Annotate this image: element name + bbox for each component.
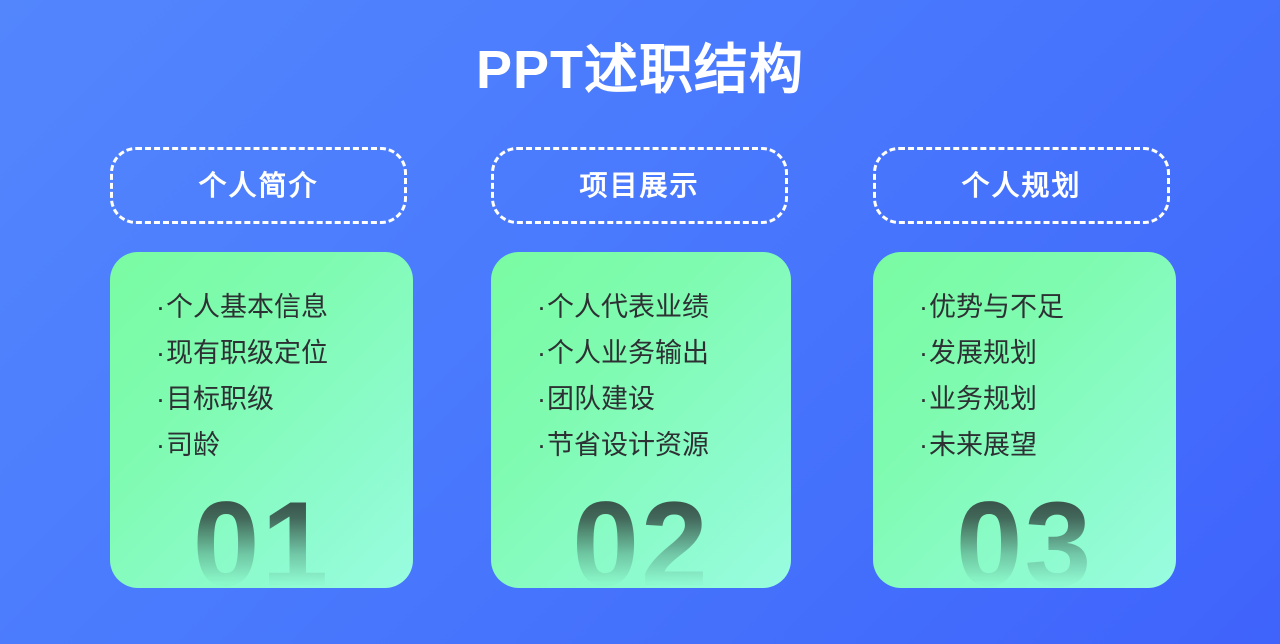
section-card-3[interactable]: · 优势与不足 · 发展规划 · 业务规划 · 未来展望 03: [873, 252, 1176, 588]
list-item-label: 节省设计资源: [547, 422, 709, 468]
list-item-label: 司龄: [166, 422, 220, 468]
list-item-label: 团队建设: [547, 376, 655, 422]
bullet-dot-icon: ·: [537, 284, 546, 330]
bullet-dot-icon: ·: [156, 284, 165, 330]
list-item: · 个人业务输出: [537, 330, 781, 376]
bullet-list-1: · 个人基本信息 · 现有职级定位 · 目标职级 · 司龄: [156, 284, 403, 468]
bullet-dot-icon: ·: [919, 330, 928, 376]
list-item-label: 目标职级: [166, 376, 274, 422]
card-number-3: 03: [873, 484, 1176, 588]
bullet-dot-icon: ·: [919, 422, 928, 468]
list-item-label: 发展规划: [929, 330, 1037, 376]
bullet-dot-icon: ·: [537, 330, 546, 376]
list-item-label: 未来展望: [929, 422, 1037, 468]
section-header-box-3[interactable]: 个人规划: [873, 147, 1170, 224]
card-number-1: 01: [110, 484, 413, 588]
bullet-dot-icon: ·: [156, 376, 165, 422]
list-item: · 优势与不足: [919, 284, 1166, 330]
section-card-1[interactable]: · 个人基本信息 · 现有职级定位 · 目标职级 · 司龄 01: [110, 252, 413, 588]
section-header-label-2: 项目展示: [579, 169, 699, 203]
list-item: · 现有职级定位: [156, 330, 403, 376]
list-item-label: 优势与不足: [929, 284, 1064, 330]
column-3: 个人规划 · 优势与不足 · 发展规划 · 业务规划 · 未来展望: [873, 147, 1170, 588]
list-item: · 个人基本信息: [156, 284, 403, 330]
list-item: · 个人代表业绩: [537, 284, 781, 330]
column-2: 项目展示 · 个人代表业绩 · 个人业务输出 · 团队建设 · 节省设计资源: [491, 147, 788, 588]
bullet-dot-icon: ·: [537, 376, 546, 422]
section-header-label-3: 个人规划: [961, 169, 1081, 203]
bullet-list-3: · 优势与不足 · 发展规划 · 业务规划 · 未来展望: [919, 284, 1166, 468]
bullet-dot-icon: ·: [919, 284, 928, 330]
page-title: PPT述职结构: [0, 38, 1280, 102]
list-item-label: 业务规划: [929, 376, 1037, 422]
bullet-dot-icon: ·: [156, 330, 165, 376]
list-item-label: 现有职级定位: [166, 330, 328, 376]
slide-canvas: PPT述职结构 个人简介 · 个人基本信息 · 现有职级定位 · 目标职级: [0, 0, 1280, 644]
section-card-2[interactable]: · 个人代表业绩 · 个人业务输出 · 团队建设 · 节省设计资源 02: [491, 252, 791, 588]
section-header-box-2[interactable]: 项目展示: [491, 147, 788, 224]
list-item-label: 个人业务输出: [547, 330, 709, 376]
list-item: · 业务规划: [919, 376, 1166, 422]
list-item-label: 个人基本信息: [166, 284, 328, 330]
list-item-label: 个人代表业绩: [547, 284, 709, 330]
card-number-2: 02: [491, 484, 791, 588]
section-header-label-1: 个人简介: [198, 169, 318, 203]
bullet-dot-icon: ·: [537, 422, 546, 468]
bullet-dot-icon: ·: [919, 376, 928, 422]
bullet-dot-icon: ·: [156, 422, 165, 468]
list-item: · 发展规划: [919, 330, 1166, 376]
list-item: · 节省设计资源: [537, 422, 781, 468]
section-header-box-1[interactable]: 个人简介: [110, 147, 407, 224]
list-item: · 目标职级: [156, 376, 403, 422]
list-item: · 司龄: [156, 422, 403, 468]
list-item: · 未来展望: [919, 422, 1166, 468]
column-1: 个人简介 · 个人基本信息 · 现有职级定位 · 目标职级 · 司龄: [110, 147, 407, 588]
bullet-list-2: · 个人代表业绩 · 个人业务输出 · 团队建设 · 节省设计资源: [537, 284, 781, 468]
list-item: · 团队建设: [537, 376, 781, 422]
